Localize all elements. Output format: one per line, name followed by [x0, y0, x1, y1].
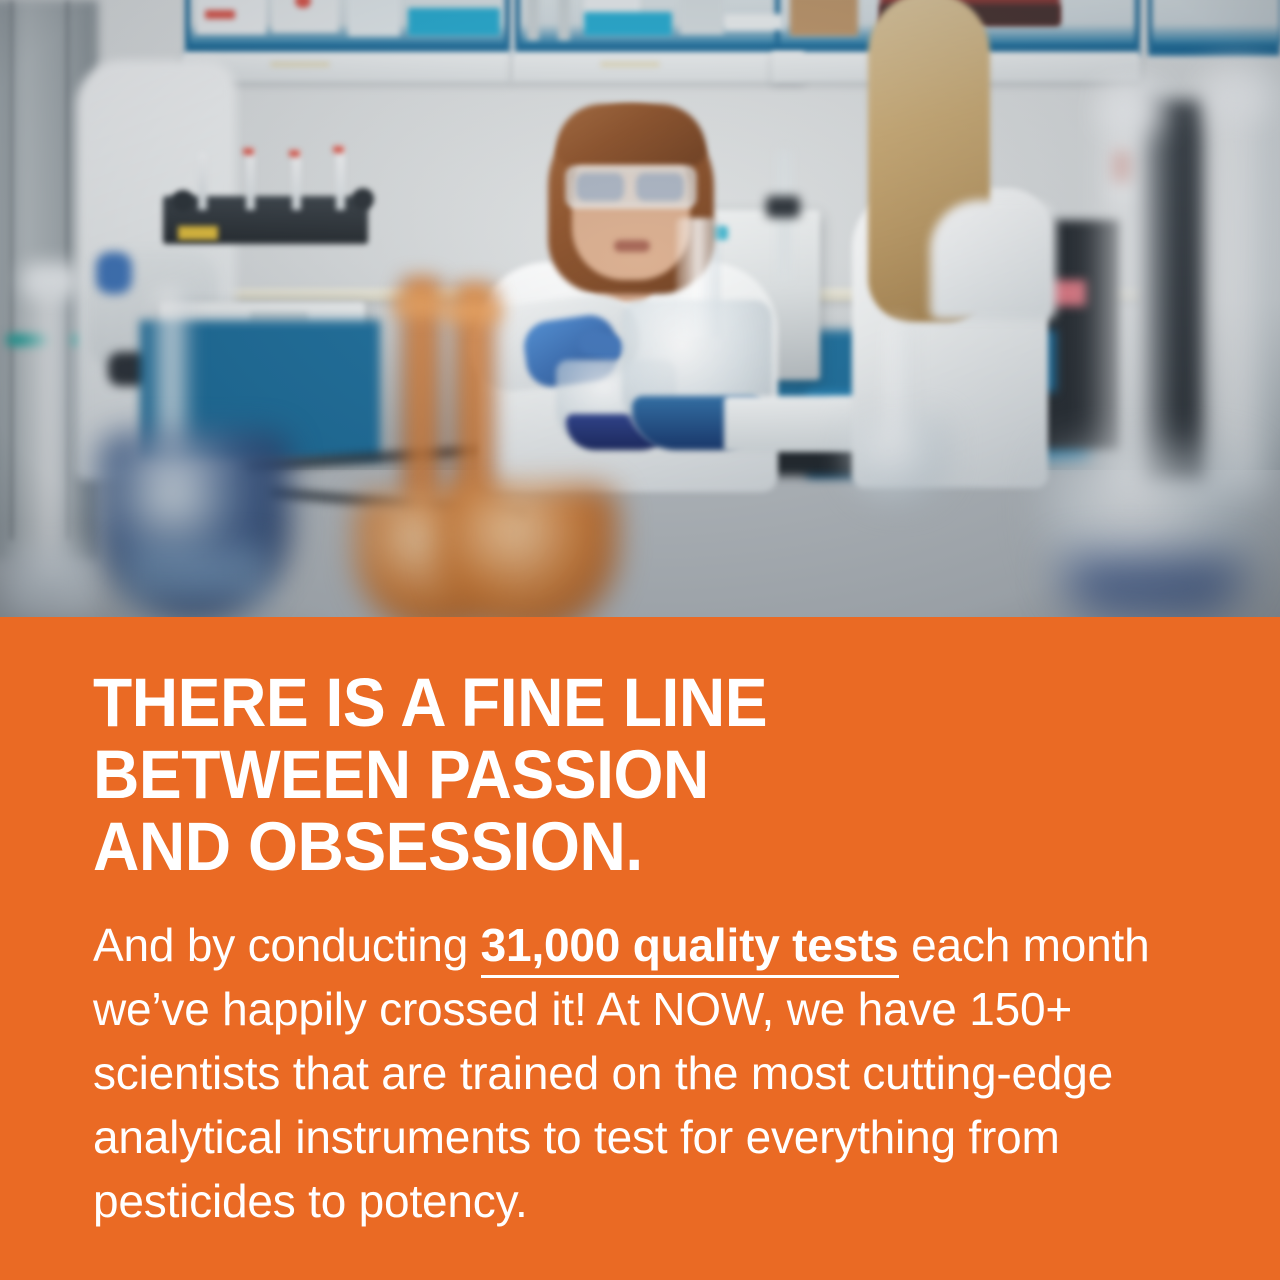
- graduated-cylinder-left: [28, 282, 74, 582]
- sample-vial-1: [198, 152, 207, 210]
- promo-card: THERE IS A FINE LINE BETWEEN PASSION AND…: [0, 0, 1280, 1280]
- cabinet-handle-left: [270, 62, 330, 67]
- cabinet-divider-2: [558, 0, 570, 40]
- cardboard-box: [790, 0, 858, 36]
- vial-cap-2: [289, 150, 300, 157]
- vial-rack-knob-left: [172, 190, 194, 212]
- quality-tests-emphasis: 31,000 quality tests: [481, 919, 899, 978]
- reagent-tray: [724, 14, 784, 30]
- cabinet-front-center: [512, 52, 804, 82]
- bench-stand-clamp: [766, 196, 800, 218]
- body-copy-lead: And by conducting: [93, 919, 481, 971]
- vial-cap-1: [243, 148, 254, 155]
- scientist-foreground-fringe: [556, 104, 706, 166]
- goggles-lens-right: [636, 173, 684, 201]
- sample-vial-3: [292, 150, 301, 210]
- amber-flask-collar-2: [444, 300, 502, 322]
- scientist-left-glove: [96, 252, 132, 294]
- scientist-blonde-shoulder: [930, 200, 1056, 320]
- cylinder-right-1-cap: [1100, 88, 1162, 132]
- instrument-yellow-strip: [178, 226, 218, 240]
- graduated-cylinder-right-2: [1198, 66, 1276, 496]
- graduated-cylinder-left-base: [6, 548, 98, 617]
- reagent-box-1-label: [205, 10, 235, 19]
- vial-cap-3: [333, 146, 344, 153]
- goggles-lens-left: [576, 173, 624, 201]
- body-copy: And by conducting 31,000 quality tests e…: [93, 913, 1187, 1233]
- reagent-jug-white: [680, 0, 724, 34]
- round-flask-right-liquid: [1062, 556, 1244, 617]
- graduated-cylinder-left-cap: [22, 262, 80, 298]
- reagent-jug-blue-2: [584, 12, 672, 36]
- lab-photo: [0, 0, 1280, 617]
- graduated-cylinder-right-1: [1096, 78, 1168, 498]
- column-groove-1: [10, 0, 13, 540]
- reagent-jug-blue: [408, 8, 500, 36]
- message-panel: THERE IS A FINE LINE BETWEEN PASSION AND…: [0, 617, 1280, 1280]
- amber-flask-body-2: [438, 486, 618, 617]
- sample-vial-2: [246, 148, 255, 210]
- cylinder-right-2-cap: [1204, 76, 1270, 120]
- sample-vial-4: [336, 146, 345, 210]
- cabinet-handle-center: [600, 62, 660, 67]
- headline: THERE IS A FINE LINE BETWEEN PASSION AND…: [93, 667, 1110, 883]
- scientist-foreground-mouth: [614, 240, 650, 252]
- vial-rack-knob-right: [352, 188, 374, 210]
- reagent-bottle-1: [348, 0, 400, 36]
- amber-flask-collar-1: [392, 294, 450, 316]
- cabinet-divider-1: [527, 0, 539, 40]
- cabinet-glass-far-right: [1152, 0, 1280, 44]
- small-flask-body: [848, 418, 948, 504]
- volumetric-flask-500-label: [124, 546, 270, 604]
